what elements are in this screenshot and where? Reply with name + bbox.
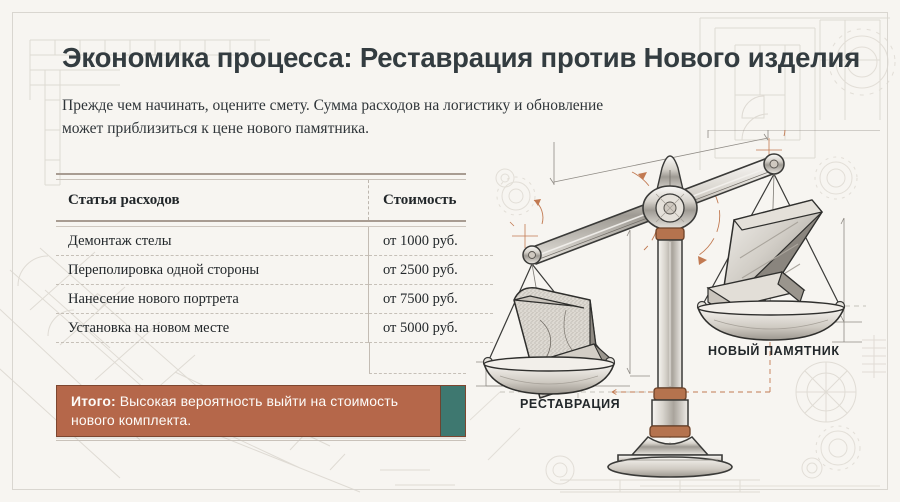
table-header-row: Статья расходов Стоимость bbox=[56, 180, 493, 220]
column-header-item: Статья расходов bbox=[56, 180, 369, 220]
callout-text: Итого: Высокая вероятность выйти на стои… bbox=[57, 392, 440, 431]
balance-scale-icon bbox=[470, 130, 890, 480]
cell-item: Нанесение нового портрета bbox=[56, 285, 369, 314]
cost-table-body-grid: Демонтаж стелы от 1000 руб. Переполировк… bbox=[56, 227, 493, 343]
header: Экономика процесса: Реставрация против Н… bbox=[62, 42, 860, 140]
table-row: Нанесение нового портрета от 7500 руб. bbox=[56, 285, 493, 314]
table-row: Демонтаж стелы от 1000 руб. bbox=[56, 227, 493, 256]
table-tail-row bbox=[369, 343, 466, 374]
cost-table-grid: Статья расходов Стоимость bbox=[56, 180, 493, 220]
page-title: Экономика процесса: Реставрация против Н… bbox=[62, 42, 860, 74]
slide-root: Экономика процесса: Реставрация против Н… bbox=[0, 0, 900, 502]
table-head: Статья расходов Стоимость bbox=[56, 180, 493, 220]
cell-item: Демонтаж стелы bbox=[56, 227, 369, 256]
balance-scale-illustration: РЕСТАВРАЦИЯ НОВЫЙ ПАМЯТНИК bbox=[470, 130, 890, 480]
table-row: Установка на новом месте от 5000 руб. bbox=[56, 314, 493, 343]
callout-underline bbox=[56, 440, 466, 444]
table-body: Демонтаж стелы от 1000 руб. Переполировк… bbox=[56, 227, 493, 343]
cell-item: Установка на новом месте bbox=[56, 314, 369, 343]
table-row: Переполировка одной стороны от 2500 руб. bbox=[56, 256, 493, 285]
callout-accent-bar bbox=[440, 386, 465, 436]
label-new-monument: НОВЫЙ ПАМЯТНИК bbox=[708, 344, 840, 358]
cost-table: Статья расходов Стоимость Демонтаж стелы… bbox=[56, 173, 466, 374]
callout-lead: Итого: bbox=[71, 393, 116, 409]
label-restoration: РЕСТАВРАЦИЯ bbox=[520, 397, 620, 411]
callout-body: Высокая вероятность выйти на стоимость н… bbox=[71, 393, 398, 428]
cell-item: Переполировка одной стороны bbox=[56, 256, 369, 285]
table-rule-mid bbox=[56, 220, 466, 227]
table-rule-top bbox=[56, 173, 466, 180]
summary-callout: Итого: Высокая вероятность выйти на стои… bbox=[56, 385, 466, 437]
